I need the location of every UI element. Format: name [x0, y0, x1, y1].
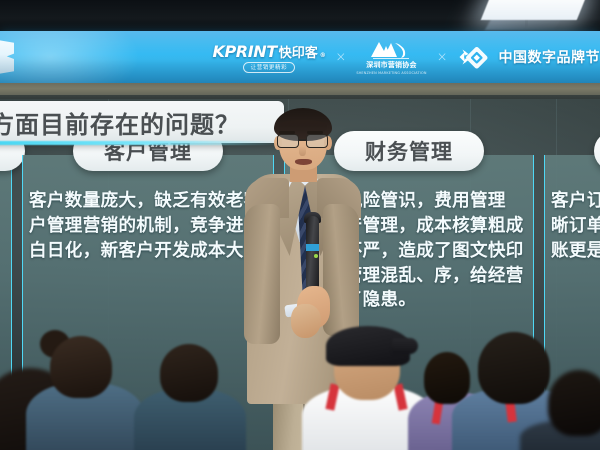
festival-logo-icon [458, 45, 494, 69]
ceiling-light-panel [481, 0, 588, 20]
sponsor-separator-1: × [334, 50, 347, 65]
slide-card-heading: 财务管理 [365, 136, 453, 166]
microphone-led [314, 254, 318, 258]
slide-card-body: 客户数量庞大，缺乏有效老客户管理营销的机制，竞争进入白日化，新客户开发成本大 [23, 189, 273, 264]
speaker-hand-lower [291, 304, 321, 338]
audience-member-head [160, 344, 218, 402]
association-name-cn: 深圳市营销协会 [366, 60, 416, 70]
association-logo-icon [369, 40, 413, 59]
glasses-lens-left [277, 134, 299, 148]
kprint-tagline: 让营销更精彩 [243, 62, 296, 73]
kprint-logo: KPRINT 快印客 ® [212, 42, 325, 61]
kprint-name-cn: 快印客 [279, 42, 318, 61]
sponsor-association: 深圳市营销协会 SHENZHEN MARKETING ASSOCIATION [356, 40, 426, 75]
slide-card-body: ， 有 的 日 本 [0, 189, 11, 264]
baseball-cap-brim [392, 338, 418, 354]
kprint-trademark: ® [320, 52, 326, 59]
glasses-bridge [299, 139, 307, 141]
slide-title-text: 方面目前存在的问题？ [0, 105, 240, 140]
speaker-arm-left [244, 204, 280, 344]
audience-member-head [50, 336, 112, 398]
sponsor-kprint: KPRINT 快印客 ® 让营销更精彩 [212, 42, 325, 73]
sponsor-banner: KPRINT 快印客 ® 让营销更精彩 × 深圳市营销协会 SHENZHEN M… [0, 31, 600, 83]
slide-title-underline [0, 141, 282, 145]
festival-name-cn: 中国数字品牌节 [499, 47, 600, 67]
speaker-nose [299, 146, 306, 156]
audience-member-head [548, 370, 600, 436]
association-name-en: SHENZHEN MARKETING ASSOCIATION [356, 71, 426, 75]
microphone-band [306, 244, 319, 251]
glasses-lens-right [306, 134, 328, 148]
sponsor-separator-2: × [436, 50, 449, 65]
slide-card-body: 客户订单管理无序，造成不清晰订单信息交织在一起，部对账更是导致延误无形损失大。 [545, 189, 600, 264]
kprint-name-en: KPRINT [212, 42, 276, 61]
photo-scene: KPRINT 快印客 ® 让营销更精彩 × 深圳市营销协会 SHENZHEN M… [0, 0, 600, 450]
sponsor-festival: 中国数字品牌节 [458, 45, 600, 69]
audience-member-head [478, 332, 550, 404]
speaker-mouth [295, 159, 312, 165]
ceiling [0, 0, 600, 33]
slide-title-banner: 方面目前存在的问题？ [0, 101, 284, 143]
audience-member-head [424, 352, 470, 404]
